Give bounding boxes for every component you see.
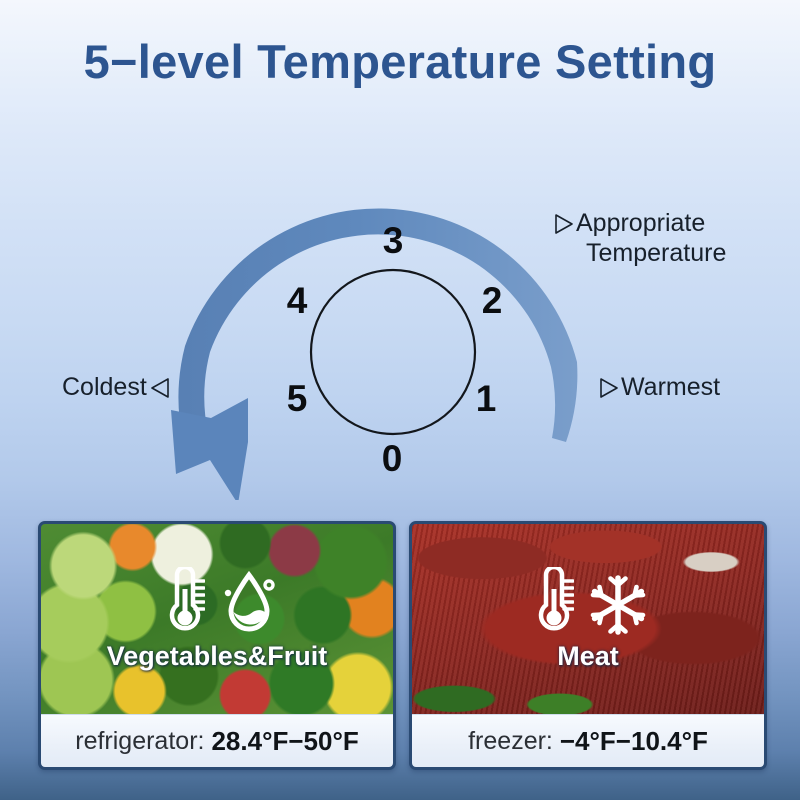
temperature-setting-poster: 5−level Temperature Setting 3 2 1 0 5 4 (0, 0, 800, 800)
appropriate-label-line2: Temperature (586, 239, 726, 269)
refrigerator-caption: refrigerator: 28.4°F−50°F (41, 714, 393, 767)
right-triangle-icon (553, 213, 573, 235)
freezer-card[interactable]: Meat freezer: −4°F−10.4°F (409, 521, 767, 770)
coldest-label-group: Coldest (62, 373, 170, 403)
left-triangle-icon (150, 377, 170, 399)
freezer-caption: freezer: −4°F−10.4°F (412, 714, 764, 767)
refrigerator-caption-value: 28.4°F−50°F (211, 726, 358, 757)
dial-number-0: 0 (372, 440, 412, 477)
refrigerator-caption-label: refrigerator: (75, 727, 204, 756)
dial-number-2: 2 (472, 282, 512, 319)
vegetables-photo: Vegetables&Fruit (41, 524, 393, 714)
right-triangle-icon (598, 377, 618, 399)
meat-photo: Meat (412, 524, 764, 714)
dial-number-3: 3 (373, 222, 413, 259)
page-title: 5−level Temperature Setting (0, 34, 800, 89)
freezer-caption-value: −4°F−10.4°F (560, 726, 708, 757)
temperature-dial-diagram: 3 2 1 0 5 4 Coldest Appropriate Temper (0, 130, 800, 500)
appropriate-temperature-label-group: Appropriate Temperature (553, 209, 726, 268)
dial-ring (311, 270, 475, 434)
warmest-label-group: Warmest (598, 373, 720, 403)
dial-number-4: 4 (277, 282, 317, 319)
appropriate-label-line1: Appropriate (576, 209, 726, 239)
dial-number-5: 5 (277, 380, 317, 417)
warmest-label: Warmest (621, 373, 720, 403)
arrow-head-icon (171, 398, 248, 500)
freezer-caption-label: freezer: (468, 727, 553, 756)
coldest-label: Coldest (62, 373, 147, 403)
refrigerator-card[interactable]: Vegetables&Fruit refrigerator: 28.4°F−50… (38, 521, 396, 770)
dial-number-1: 1 (466, 380, 506, 417)
